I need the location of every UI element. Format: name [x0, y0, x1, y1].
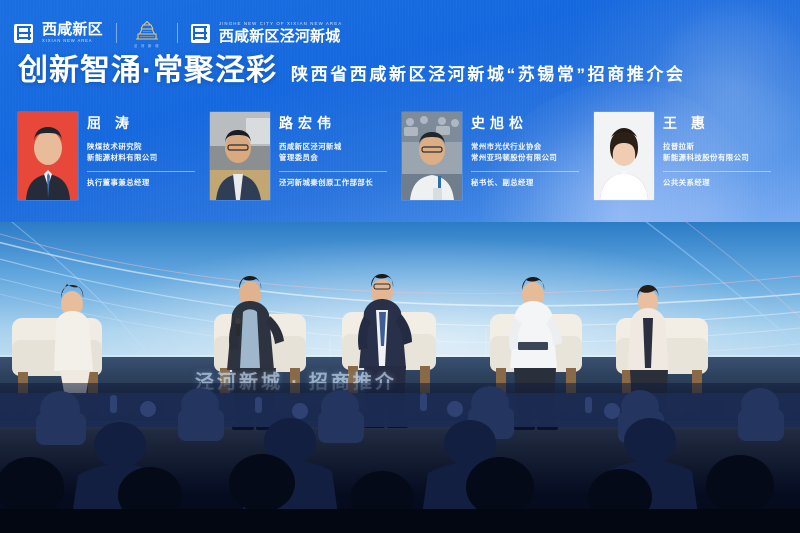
speaker-photo — [210, 112, 270, 200]
xixian-emblem-icon — [14, 24, 33, 43]
speaker-card: 屈 涛 陕煤技术研究院 新能源材料有限公司 执行董事兼总经理 — [18, 112, 210, 208]
logo-jinghe-cn: 西咸新区泾河新城 — [219, 29, 342, 44]
speaker-portrait-icon — [402, 112, 462, 200]
logo-jinghe-en: JINGHE NEW CITY OF XIXIAN NEW AREA — [219, 22, 342, 26]
conference-screenshot: 西咸新区 XIXIAN NEW AREA — [0, 0, 800, 533]
speaker-org-line1: 拉普拉斯 — [663, 141, 786, 152]
speaker-org-line1: 常州市光伏行业协会 — [471, 141, 594, 152]
speaker-portrait-icon — [594, 112, 654, 200]
logo-jinghe: JINGHE NEW CITY OF XIXIAN NEW AREA 西咸新区泾… — [219, 22, 342, 43]
speaker-title: 公共关系经理 — [663, 178, 786, 188]
speaker-divider — [663, 171, 771, 172]
speaker-divider — [279, 171, 387, 172]
logo-divider-2 — [177, 23, 178, 43]
speaker-divider — [471, 171, 579, 172]
audience-area — [0, 383, 800, 533]
speaker-photo — [594, 112, 654, 200]
speaker-org-line2: 管理委员会 — [279, 152, 402, 163]
speaker-org-line2: 新能源科技股份有限公司 — [663, 152, 786, 163]
speaker-title: 秘书长、副总经理 — [471, 178, 594, 188]
speaker-card-list: 屈 涛 陕煤技术研究院 新能源材料有限公司 执行董事兼总经理 — [18, 112, 786, 208]
logo-divider-1 — [116, 23, 117, 43]
speaker-name: 王 惠 — [663, 116, 786, 130]
speaker-name: 路宏伟 — [279, 116, 402, 130]
logo-xixian-cn: 西咸新区 — [42, 22, 103, 37]
speaker-info: 王 惠 拉普拉斯 新能源科技股份有限公司 公共关系经理 — [663, 112, 786, 208]
logo-xixian: 西咸新区 XIXIAN NEW AREA — [42, 22, 103, 43]
speaker-card: 王 惠 拉普拉斯 新能源科技股份有限公司 公共关系经理 — [594, 112, 786, 208]
speaker-title: 泾河新城秦创原工作部部长 — [279, 178, 402, 188]
speaker-org-line2: 常州亚玛顿股份有限公司 — [471, 152, 594, 163]
event-slogan: 创新智涌·常聚泾彩 — [18, 56, 277, 86]
speaker-title: 执行董事兼总经理 — [87, 178, 210, 188]
gate-logo-label: 泾 河 新 城 — [134, 43, 160, 48]
event-banner: 西咸新区 XIXIAN NEW AREA — [0, 0, 800, 222]
speaker-portrait-icon — [18, 112, 78, 200]
speaker-info: 史旭松 常州市光伏行业协会 常州亚玛顿股份有限公司 秘书长、副总经理 — [471, 112, 594, 208]
speaker-photo — [402, 112, 462, 200]
speaker-card: 路宏伟 西咸新区泾河新城 管理委员会 泾河新城秦创原工作部部长 — [210, 112, 402, 208]
speaker-info: 屈 涛 陕煤技术研究院 新能源材料有限公司 执行董事兼总经理 — [87, 112, 210, 208]
stage-photo: 泾河新城 · 招商推介 — [0, 222, 800, 533]
speaker-org-line2: 新能源材料有限公司 — [87, 152, 210, 163]
audience-silhouettes — [0, 383, 800, 533]
speaker-org-line1: 陕煤技术研究院 — [87, 141, 210, 152]
event-subtitle: 陕西省西咸新区泾河新城“苏锡常”招商推介会 — [291, 66, 686, 83]
speaker-photo — [18, 112, 78, 200]
speaker-name: 史旭松 — [471, 116, 594, 130]
speaker-card: 史旭松 常州市光伏行业协会 常州亚玛顿股份有限公司 秘书长、副总经理 — [402, 112, 594, 208]
logo-xixian-en: XIXIAN NEW AREA — [42, 39, 103, 43]
logo-bar: 西咸新区 XIXIAN NEW AREA — [14, 18, 342, 48]
speaker-name: 屈 涛 — [87, 116, 210, 130]
speaker-divider — [87, 171, 195, 172]
speaker-org-line1: 西咸新区泾河新城 — [279, 141, 402, 152]
speaker-portrait-icon — [210, 112, 270, 200]
jinghe-emblem-icon — [191, 24, 210, 43]
headline-row: 创新智涌·常聚泾彩 陕西省西咸新区泾河新城“苏锡常”招商推介会 — [18, 56, 782, 86]
gate-tower-icon — [130, 18, 164, 42]
jinghe-gate-logo: 泾 河 新 城 — [130, 18, 164, 48]
speaker-info: 路宏伟 西咸新区泾河新城 管理委员会 泾河新城秦创原工作部部长 — [279, 112, 402, 208]
